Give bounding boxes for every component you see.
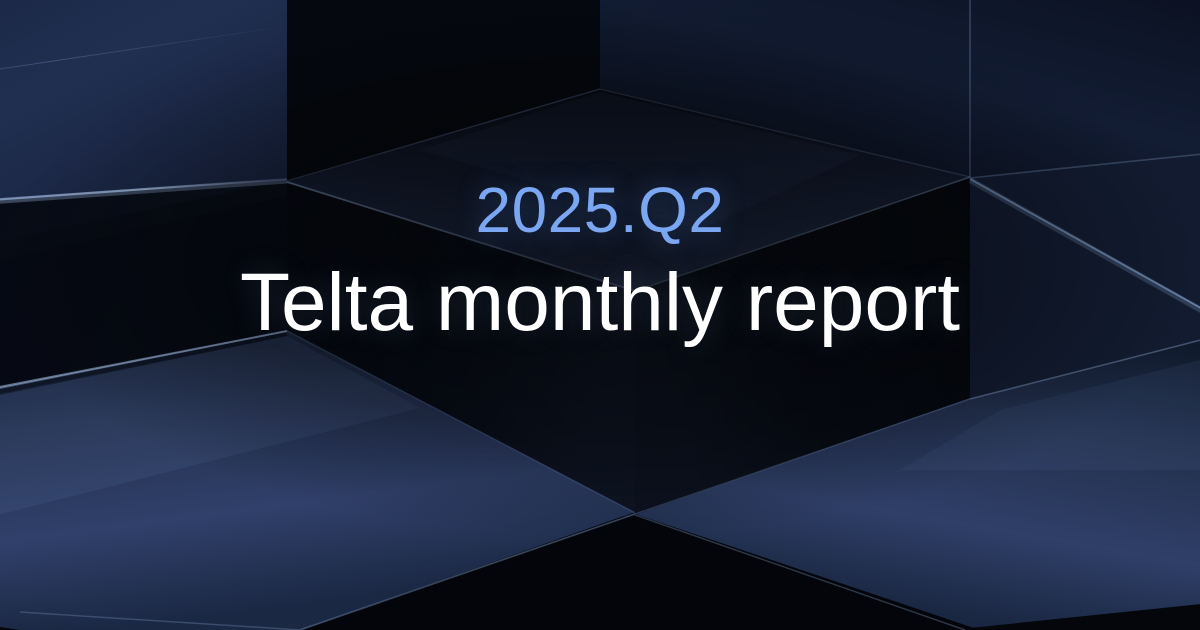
- poster-canvas: 2025.Q2 Telta monthly report: [0, 0, 1200, 630]
- isometric-cube-background: [0, 0, 1200, 630]
